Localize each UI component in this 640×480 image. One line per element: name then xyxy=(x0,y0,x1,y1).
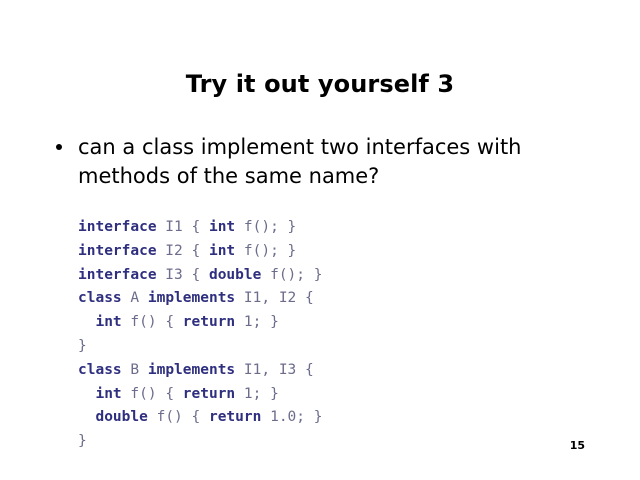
code-keyword: int xyxy=(95,386,121,402)
code-text: I1 { xyxy=(157,219,209,235)
code-keyword: int xyxy=(95,314,121,330)
code-text: I3 { xyxy=(157,267,209,283)
bullet-dot-icon xyxy=(56,144,62,150)
code-text xyxy=(78,314,95,330)
code-text: f() { xyxy=(148,409,209,425)
code-keyword: return xyxy=(183,314,235,330)
code-keyword: return xyxy=(183,386,235,402)
code-keyword: interface xyxy=(78,243,157,259)
code-keyword: implements xyxy=(148,362,235,378)
code-text: f(); } xyxy=(235,243,296,259)
code-line: class B implements I1, I3 { xyxy=(78,359,322,383)
code-text: 1; } xyxy=(235,314,279,330)
code-text: B xyxy=(122,362,148,378)
code-text: f(); } xyxy=(235,219,296,235)
code-keyword: double xyxy=(95,409,147,425)
code-text: f(); } xyxy=(261,267,322,283)
code-keyword: class xyxy=(78,362,122,378)
code-keyword: double xyxy=(209,267,261,283)
code-keyword: int xyxy=(209,243,235,259)
slide-canvas: Try it out yourself 3 can a class implem… xyxy=(0,0,640,480)
code-text: 1.0; } xyxy=(261,409,322,425)
code-text: } xyxy=(78,338,87,354)
code-keyword: interface xyxy=(78,219,157,235)
code-text: I1, I2 { xyxy=(235,290,314,306)
list-item: can a class implement two interfaces wit… xyxy=(52,133,572,191)
code-line: } xyxy=(78,430,322,454)
code-keyword: return xyxy=(209,409,261,425)
code-text: I2 { xyxy=(157,243,209,259)
code-text xyxy=(78,386,95,402)
code-text: } xyxy=(78,433,87,449)
code-line: } xyxy=(78,335,322,359)
code-text: 1; } xyxy=(235,386,279,402)
code-keyword: int xyxy=(209,219,235,235)
code-line: double f() { return 1.0; } xyxy=(78,406,322,430)
code-keyword: implements xyxy=(148,290,235,306)
code-keyword: interface xyxy=(78,267,157,283)
code-line: interface I3 { double f(); } xyxy=(78,264,322,288)
code-text xyxy=(78,409,95,425)
code-block: interface I1 { int f(); }interface I2 { … xyxy=(78,216,322,454)
code-line: int f() { return 1; } xyxy=(78,311,322,335)
code-text: I1, I3 { xyxy=(235,362,314,378)
page-title: Try it out yourself 3 xyxy=(0,70,640,98)
code-line: class A implements I1, I2 { xyxy=(78,287,322,311)
code-line: int f() { return 1; } xyxy=(78,383,322,407)
code-keyword: class xyxy=(78,290,122,306)
bullet-item-label: can a class implement two interfaces wit… xyxy=(78,133,572,191)
code-text: f() { xyxy=(122,386,183,402)
page-number: 15 xyxy=(570,439,585,452)
code-line: interface I2 { int f(); } xyxy=(78,240,322,264)
code-text: A xyxy=(122,290,148,306)
bullet-list: can a class implement two interfaces wit… xyxy=(52,133,572,191)
code-line: interface I1 { int f(); } xyxy=(78,216,322,240)
code-text: f() { xyxy=(122,314,183,330)
